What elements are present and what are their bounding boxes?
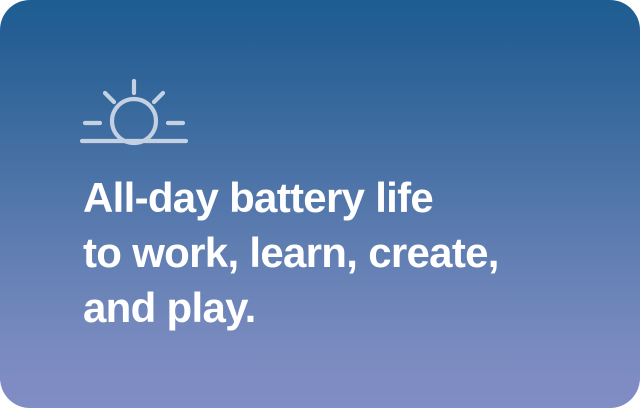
sun-ray-upper-right	[154, 93, 163, 102]
sun-ray-upper-left	[105, 93, 114, 102]
headline-line-3: and play.	[83, 280, 603, 335]
sun-circle	[112, 99, 156, 143]
headline-line-1: All-day battery life	[83, 170, 603, 225]
sunrise-icon	[80, 78, 188, 148]
headline: All-day battery life to work, learn, cre…	[83, 170, 603, 335]
feature-card: All-day battery life to work, learn, cre…	[0, 0, 640, 408]
headline-line-2: to work, learn, create,	[83, 225, 603, 280]
